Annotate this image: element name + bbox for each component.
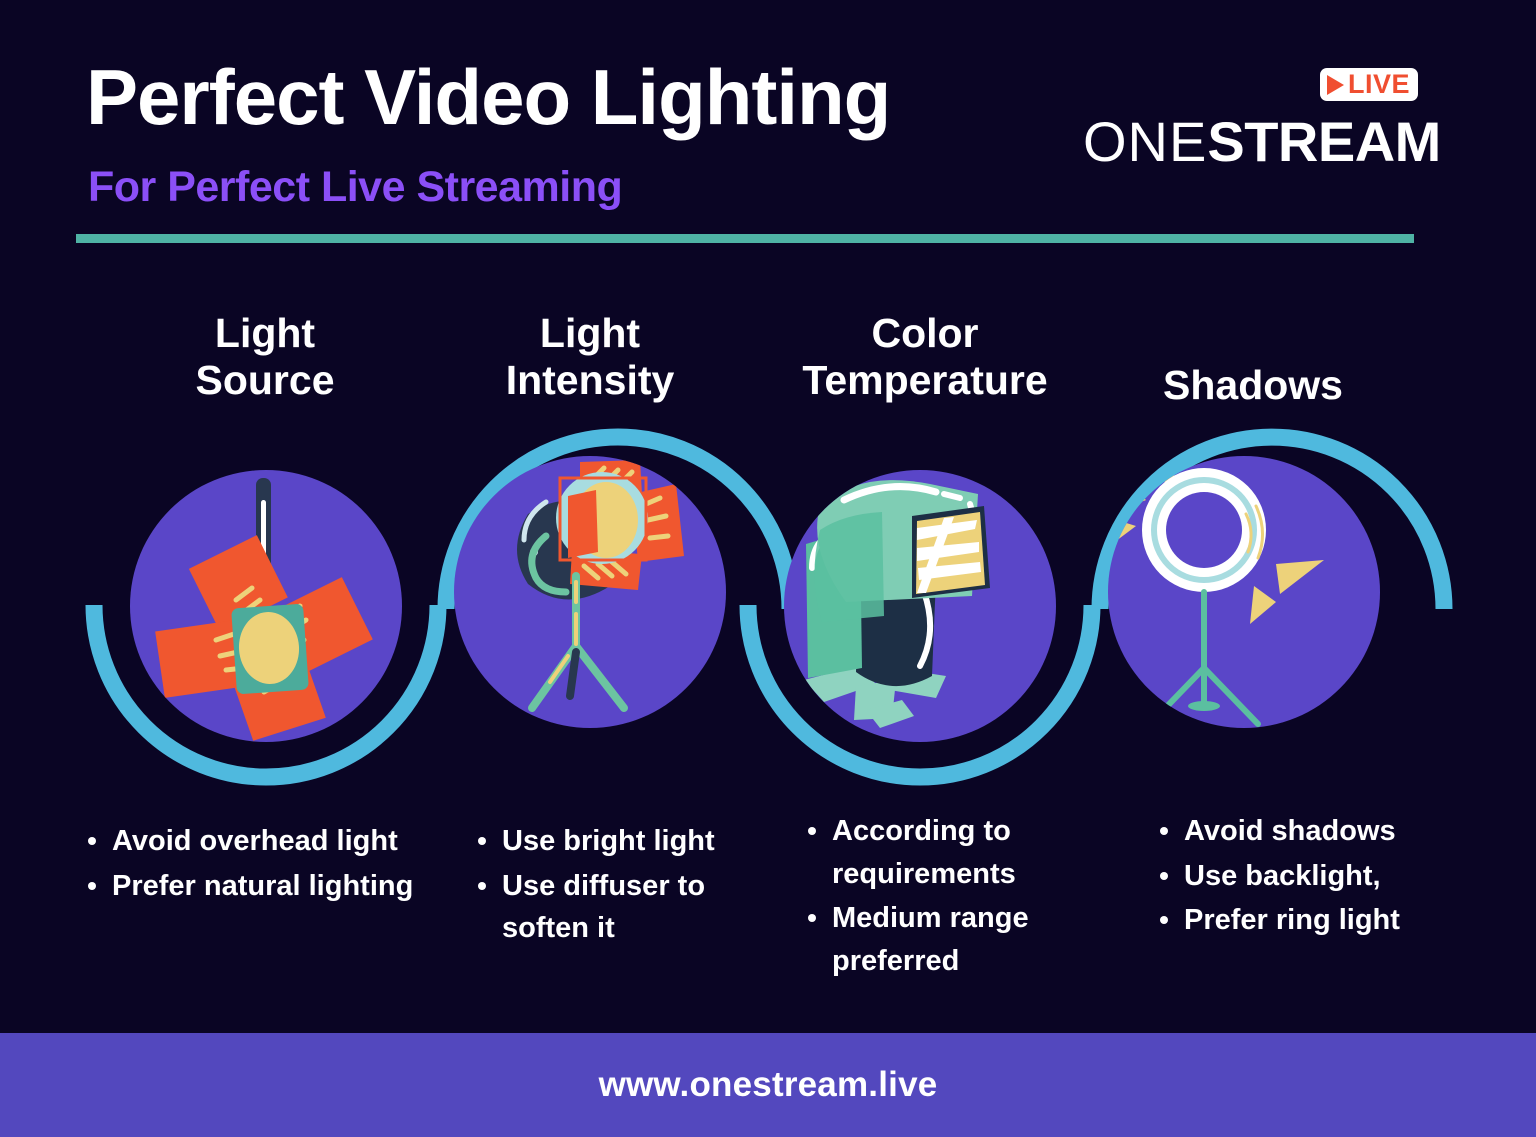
bullet-list-light-source: Avoid overhead light Prefer natural ligh… bbox=[78, 820, 438, 909]
list-item: Use bright light bbox=[502, 820, 768, 863]
play-triangle-icon bbox=[1327, 75, 1344, 95]
column-heading-color-temperature: Color Temperature bbox=[790, 310, 1060, 404]
logo-stream-text: STREAM bbox=[1207, 110, 1440, 173]
infographic-canvas: Perfect Video Lighting For Perfect Live … bbox=[0, 0, 1536, 1137]
illustration-bubble-color-temperature bbox=[784, 470, 1056, 742]
studio-light-tripod-icon bbox=[454, 456, 726, 728]
list-item: Avoid shadows bbox=[1184, 810, 1450, 853]
live-badge-label: LIVE bbox=[1348, 71, 1410, 98]
column-heading-light-intensity: Light Intensity bbox=[460, 310, 720, 404]
logo-wordmark: ONESTREAM bbox=[1083, 114, 1441, 170]
footer-bar: www.onestream.live bbox=[0, 1033, 1536, 1137]
list-item: Medium range preferred bbox=[832, 897, 1088, 982]
list-item: Prefer ring light bbox=[1184, 899, 1450, 942]
bullet-list-shadows: Avoid shadows Use backlight, Prefer ring… bbox=[1150, 810, 1450, 944]
list-item: Prefer natural lighting bbox=[112, 865, 438, 908]
camera-speedlight-flash-icon bbox=[784, 470, 1056, 742]
column-heading-shadows: Shadows bbox=[1118, 362, 1388, 409]
page-subtitle: For Perfect Live Streaming bbox=[88, 166, 622, 209]
list-item: Avoid overhead light bbox=[112, 820, 438, 863]
column-heading-light-source: Light Source bbox=[135, 310, 395, 404]
onestream-logo[interactable]: ONESTREAM LIVE bbox=[1083, 70, 1418, 170]
logo-one-text: ONE bbox=[1083, 110, 1207, 173]
page-title: Perfect Video Lighting bbox=[86, 58, 890, 136]
footer-website-url[interactable]: www.onestream.live bbox=[599, 1065, 938, 1105]
live-badge: LIVE bbox=[1320, 68, 1418, 101]
bullet-list-light-intensity: Use bright light Use diffuser to soften … bbox=[468, 820, 768, 952]
list-item: According to requirements bbox=[832, 810, 1088, 895]
list-item: Use diffuser to soften it bbox=[502, 865, 768, 950]
list-item: Use backlight, bbox=[1184, 855, 1450, 898]
illustration-bubble-light-source bbox=[130, 470, 402, 742]
barn-door-light-top-view-icon bbox=[130, 470, 402, 742]
ring-light-stand-icon bbox=[1108, 456, 1380, 728]
illustration-bubble-shadows bbox=[1108, 456, 1380, 728]
bullet-list-color-temperature: According to requirements Medium range p… bbox=[798, 810, 1088, 985]
illustration-bubble-light-intensity bbox=[454, 456, 726, 728]
header-divider bbox=[76, 234, 1414, 243]
